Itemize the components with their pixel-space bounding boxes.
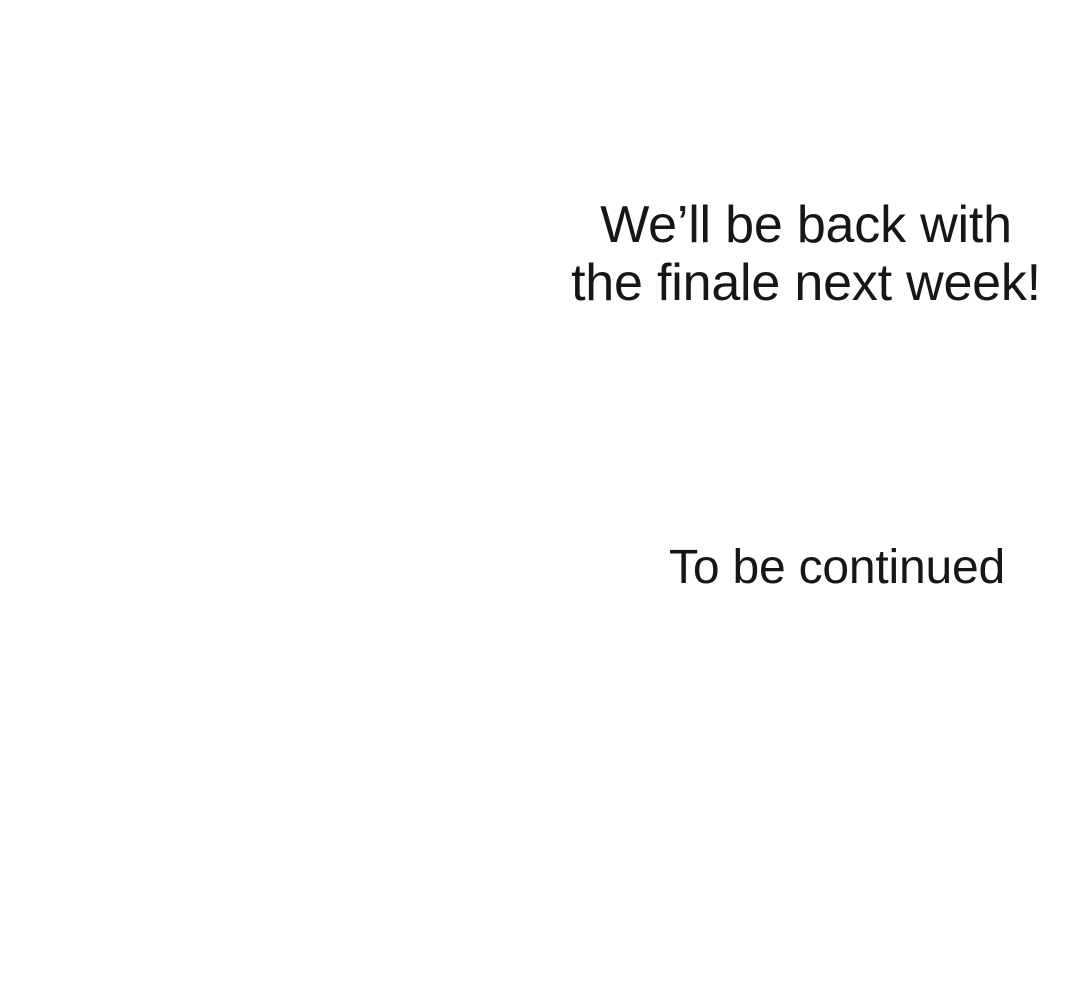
end-card-panel: We’ll be back with the finale next week!… [0, 0, 1080, 995]
announcement-text: We’ll be back with the finale next week! [506, 196, 1080, 312]
announcement-line-2: the finale next week! [506, 254, 1080, 312]
announcement-line-1: We’ll be back with [506, 196, 1080, 254]
to-be-continued-text: To be continued [537, 540, 1080, 596]
